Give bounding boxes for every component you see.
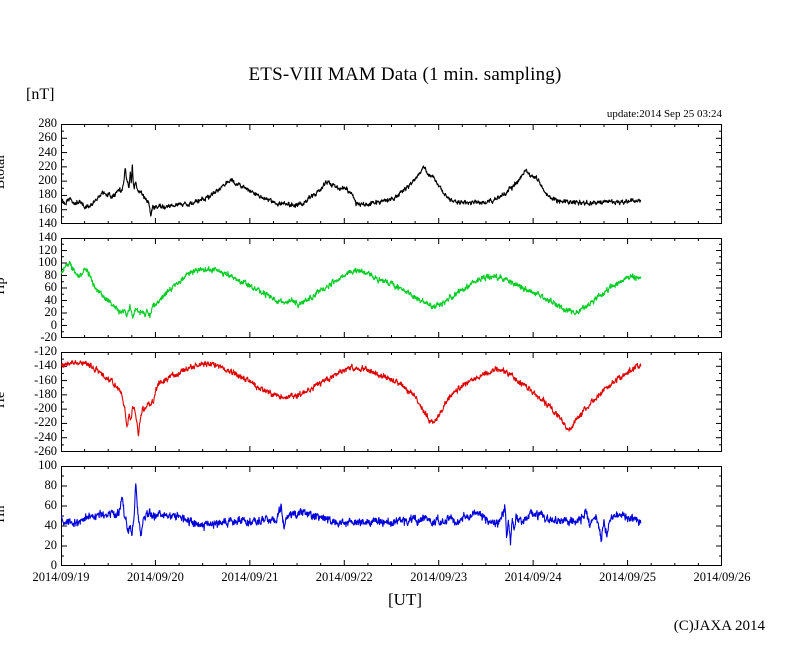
x-tick-label: 2014/09/21: [221, 570, 278, 585]
plot-panel-btotal: [61, 124, 722, 224]
y-tick-label: -240: [34, 430, 57, 445]
x-tick-label: 2014/09/23: [410, 570, 467, 585]
x-tick-label: 2014/09/26: [694, 570, 751, 585]
trace-hn: [61, 466, 722, 566]
y-tick-label: 240: [38, 145, 57, 160]
y-tick-label: 220: [38, 159, 57, 174]
plot-panel-hn: [61, 466, 722, 566]
chart-page: ETS-VIII MAM Data (1 min. sampling) [nT]…: [0, 0, 810, 655]
y-tick-label: -200: [34, 401, 57, 416]
y-tick-label: -140: [34, 358, 57, 373]
y-tick-label: 80: [45, 478, 58, 493]
y-tick-label: 200: [38, 173, 57, 188]
y-tick-label: -160: [34, 373, 57, 388]
y-tick-label: 40: [45, 518, 58, 533]
y-tick-label: -260: [34, 444, 57, 459]
x-tick-label: 2014/09/22: [316, 570, 373, 585]
y-axis-label-hn: Hn: [0, 464, 9, 564]
y-tick-label: -220: [34, 415, 57, 430]
y-axis-label-he: He: [0, 350, 9, 450]
x-tick-label: 2014/09/20: [127, 570, 184, 585]
y-tick-label: 140: [38, 230, 57, 245]
x-tick-label: 2014/09/19: [33, 570, 90, 585]
trace-hp: [61, 238, 722, 338]
plot-panel-he: [61, 352, 722, 452]
x-tick-label: 2014/09/24: [505, 570, 562, 585]
y-tick-label: 20: [45, 538, 58, 553]
y-tick-label: 140: [38, 216, 57, 231]
y-axis-label-btotal: Btotal: [0, 122, 9, 222]
y-tick-label: 280: [38, 116, 57, 131]
y-tick-label: 100: [38, 458, 57, 473]
y-tick-label: 260: [38, 130, 57, 145]
update-timestamp: update:2014 Sep 25 03:24: [607, 108, 722, 120]
y-tick-label: -120: [34, 344, 57, 359]
y-tick-label: 160: [38, 202, 57, 217]
y-axis-label-hp: Hp: [0, 236, 9, 336]
trace-he: [61, 352, 722, 452]
x-tick-label: 2014/09/25: [599, 570, 656, 585]
y-tick-label: 180: [38, 187, 57, 202]
y-tick-label: 60: [45, 498, 58, 513]
copyright-credit: (C)JAXA 2014: [674, 618, 765, 635]
y-tick-label: 0: [51, 558, 57, 573]
page-title: ETS-VIII MAM Data (1 min. sampling): [0, 64, 810, 86]
plot-panel-hp: [61, 238, 722, 338]
y-unit-label: [nT]: [26, 86, 54, 104]
trace-btotal: [61, 124, 722, 224]
x-axis-title: [UT]: [0, 590, 810, 610]
y-tick-label: -180: [34, 387, 57, 402]
